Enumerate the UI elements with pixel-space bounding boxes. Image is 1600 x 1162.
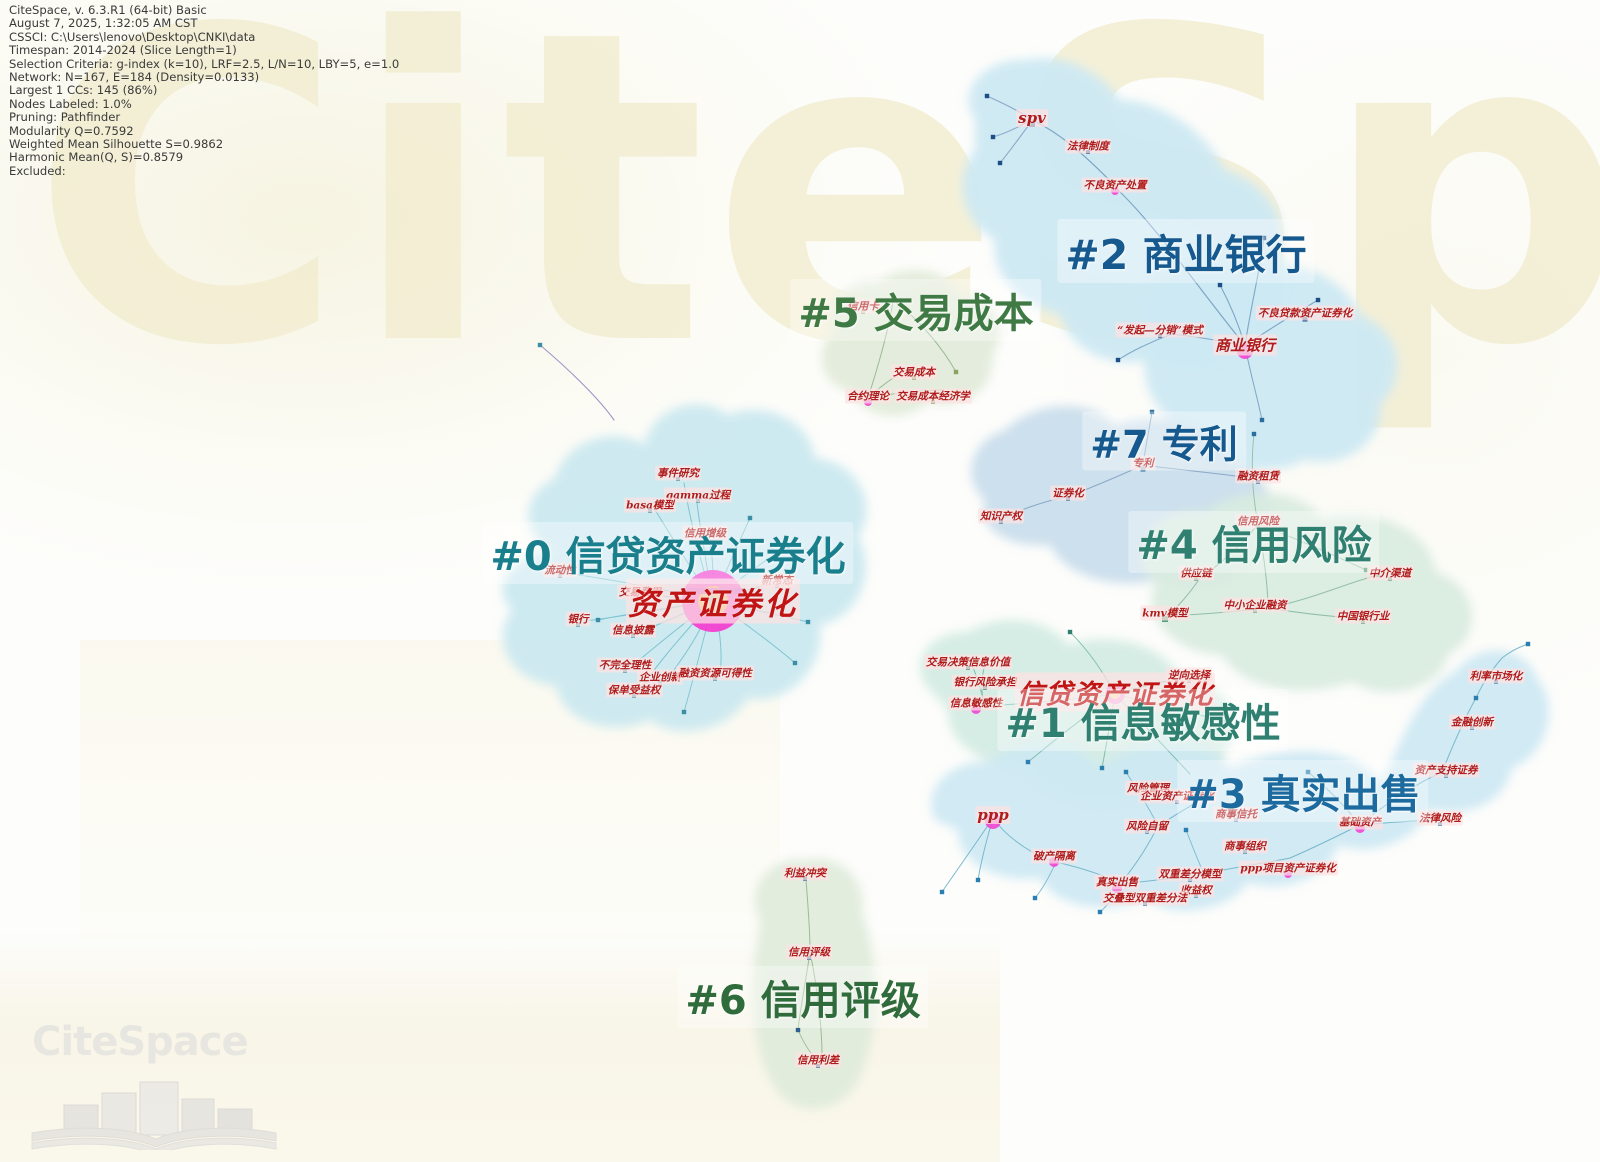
graph-node[interactable] [1124,770,1128,774]
graph-node[interactable] [682,710,686,714]
metadata-line-8: Pruning: Pathfinder [9,111,399,124]
graph-node[interactable] [807,956,811,960]
graph-node[interactable] [1026,760,1030,764]
graph-node[interactable] [1316,298,1320,302]
graph-node[interactable] [1141,467,1146,472]
graph-node[interactable] [696,499,700,503]
graph-node[interactable] [1243,850,1247,854]
metadata-panel: CiteSpace, v. 6.3.R1 (64-bit) BasicAugus… [9,4,399,178]
graph-node[interactable] [1194,577,1198,581]
graph-node[interactable] [816,1064,820,1068]
metadata-line-10: Weighted Mean Silhouette S=0.9862 [9,138,399,151]
metadata-line-11: Harmonic Mean(Q, S)=0.8579 [9,151,399,164]
graph-node[interactable] [796,1028,800,1032]
graph-node[interactable] [985,94,989,98]
metadata-line-0: CiteSpace, v. 6.3.R1 (64-bit) Basic [9,4,399,17]
graph-node[interactable] [1306,770,1310,774]
graph-node[interactable] [775,584,779,588]
hull-cluster-4 [1142,493,1472,692]
graph-node[interactable] [1376,573,1380,577]
graph-node[interactable] [1111,187,1119,195]
graph-node[interactable] [1440,770,1444,774]
graph-node[interactable] [1068,630,1072,634]
graph-node[interactable] [1237,343,1253,359]
graph-node[interactable] [864,398,872,406]
graph-node[interactable] [1175,800,1179,804]
metadata-line-4: Selection Criteria: g-index (k=10), LRF=… [9,58,399,71]
metadata-line-2: CSSCI: C:\Users\lenovo\Desktop\CNKI\data [9,31,399,44]
graph-node[interactable] [1188,878,1192,882]
graph-node[interactable] [1218,283,1222,287]
graph-node[interactable] [658,681,662,685]
graph-node[interactable] [1262,236,1266,240]
cluster-hulls [502,58,1549,1109]
graph-node[interactable] [631,634,635,638]
graph-node[interactable] [1146,792,1150,796]
graph-node[interactable] [1260,418,1264,422]
graph-node[interactable] [1029,121,1035,127]
graph-node[interactable] [713,677,717,681]
graph-node[interactable] [1066,497,1070,501]
graph-node[interactable] [1444,774,1448,778]
graph-node[interactable] [793,661,797,665]
graph-node[interactable] [1355,823,1365,833]
graph-node[interactable] [966,666,970,670]
graph-node[interactable] [931,400,935,404]
graph-node[interactable] [1303,317,1308,322]
metadata-line-5: Network: N=167, E=184 (Density=0.0133) [9,71,399,84]
graph-node[interactable] [1112,883,1122,893]
graph-node[interactable] [1143,902,1147,906]
graph-node[interactable] [1284,870,1292,878]
graph-node[interactable] [1361,620,1365,624]
graph-node[interactable] [861,310,865,314]
graph-node[interactable] [983,686,987,690]
graph-node[interactable] [748,516,752,520]
hull-cluster-5 [821,270,1000,416]
graph-node[interactable] [538,343,542,347]
graph-node[interactable] [1388,577,1392,581]
graph-node[interactable] [1158,334,1162,338]
metadata-line-3: Timespan: 2014-2024 (Slice Length=1) [9,44,399,57]
graph-node[interactable] [1145,830,1149,834]
graph-node[interactable] [954,370,958,374]
citespace-cluster-view: CiteSpace CiteSpace, v. 6.3.R1 (64-bit) … [0,0,1600,1162]
graph-node[interactable] [632,694,636,698]
graph-node[interactable] [596,618,600,622]
graph-node[interactable] [676,477,680,481]
graph-node[interactable] [1470,726,1474,730]
graph-node[interactable] [998,161,1002,165]
graph-node[interactable] [623,669,627,673]
graph-node[interactable] [638,596,642,600]
graph-node[interactable] [1526,642,1530,646]
graph-node[interactable] [1098,910,1102,914]
graph-node[interactable] [1256,525,1260,529]
metadata-line-12: Excluded: [9,165,399,178]
graph-node[interactable] [576,623,580,627]
graph-node[interactable] [1049,857,1059,867]
graph-node[interactable] [1364,568,1368,572]
graph-node[interactable] [1234,818,1238,822]
graph-node[interactable] [1256,480,1260,484]
metadata-line-1: August 7, 2025, 1:32:05 AM CST [9,17,399,30]
graph-node[interactable] [1210,792,1214,796]
node-asset-securitization-core[interactable] [682,570,744,632]
node-credit-asset-securitization-core[interactable] [1105,684,1125,704]
hull-cluster-0 [502,404,866,731]
graph-node[interactable] [1086,150,1090,154]
graph-node[interactable] [985,813,1001,829]
graph-node[interactable] [940,890,944,894]
graph-node[interactable] [786,544,790,548]
graph-node[interactable] [806,620,810,624]
graph-node[interactable] [1494,680,1498,684]
graph-node[interactable] [803,877,807,881]
graph-node[interactable] [991,135,995,139]
graph-node[interactable] [971,704,981,714]
graph-node[interactable] [1438,822,1442,826]
metadata-line-6: Largest 1 CCs: 145 (86%) [9,84,399,97]
graph-node[interactable] [1100,766,1104,770]
graph-node[interactable] [1226,720,1230,724]
graph-node[interactable] [1474,696,1478,700]
graph-node[interactable] [999,520,1003,524]
metadata-line-9: Modularity Q=0.7592 [9,125,399,138]
graph-node[interactable] [1150,410,1154,414]
graph-node[interactable] [648,509,652,513]
hull-cluster-6 [753,859,876,1109]
graph-node[interactable] [1187,679,1191,683]
metadata-line-7: Nodes Labeled: 1.0% [9,98,399,111]
graph-node[interactable] [912,376,916,380]
graph-node[interactable] [1162,616,1168,622]
graph-node[interactable] [976,878,980,882]
graph-node[interactable] [703,537,707,541]
graph-node[interactable] [1033,896,1037,900]
graph-node[interactable] [1116,358,1120,362]
graph-node[interactable] [558,574,562,578]
graph-node[interactable] [1253,609,1257,613]
graph-node[interactable] [1252,432,1256,436]
graph-node[interactable] [1184,828,1188,832]
graph-node[interactable] [1194,894,1198,898]
graph-node[interactable] [891,298,895,302]
